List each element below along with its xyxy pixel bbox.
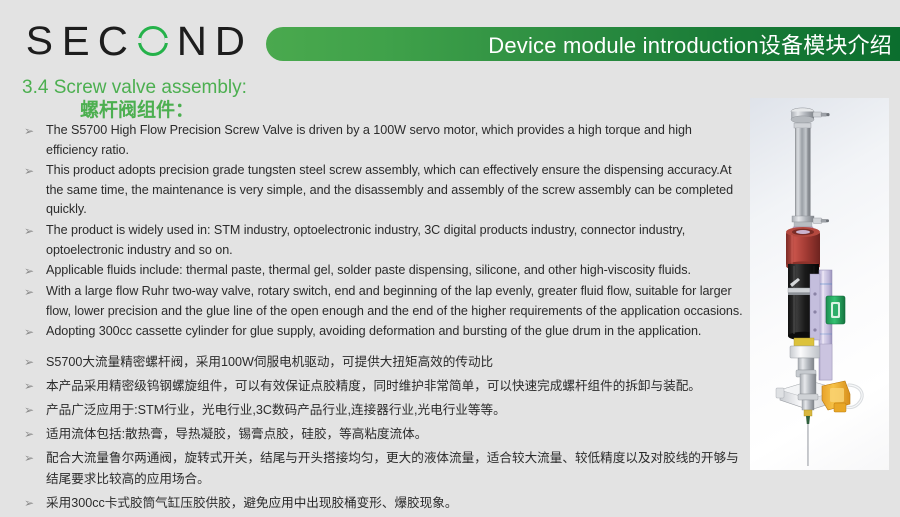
bullet-arrow-icon: ➢	[24, 161, 46, 181]
bullet-text: Applicable fluids include: thermal paste…	[46, 261, 746, 281]
bullet-text: This product adopts precision grade tung…	[46, 161, 746, 220]
section-title-cn: 螺杆阀组件：	[80, 99, 194, 123]
list-item: ➢ S5700大流量精密螺杆阀，采用100W伺服电机驱动，可提供大扭矩高效的传动…	[24, 352, 746, 373]
content-body: ➢ The S5700 High Flow Precision Screw Va…	[24, 121, 746, 517]
list-item: ➢ 配合大流量鲁尔两通阀，旋转式开关，结尾与开头搭接均匀，更大的液体流量，适合较…	[24, 448, 746, 490]
bullet-arrow-icon: ➢	[24, 261, 46, 281]
silver-cylinder-group	[791, 108, 830, 232]
bullet-text: Adopting 300cc cassette cylinder for glu…	[46, 322, 746, 342]
logo-letter-e: E	[61, 21, 89, 62]
dispensing-needle-group	[802, 400, 814, 466]
bullet-text: 产品广泛应用于:STM行业，光电行业,3C数码产品行业,连接器行业,光电行业等等…	[46, 400, 746, 421]
banner-title: Device module introduction设备模块介绍	[488, 28, 892, 60]
bullet-list-chinese: ➢ S5700大流量精密螺杆阀，采用100W伺服电机驱动，可提供大扭矩高效的传动…	[24, 352, 746, 514]
list-item: ➢ Adopting 300cc cassette cylinder for g…	[24, 322, 746, 342]
logo-letter-c: C	[98, 21, 128, 62]
list-item: ➢ 适用流体包括:散热膏，导热凝胶，锡膏点胶，硅胶，等高粘度流体。	[24, 424, 746, 445]
bullet-text: 配合大流量鲁尔两通阀，旋转式开关，结尾与开头搭接均匀，更大的液体流量，适合较大流…	[46, 448, 746, 490]
list-item: ➢ The S5700 High Flow Precision Screw Va…	[24, 121, 746, 160]
logo-letter-s: S	[26, 21, 53, 61]
screw-valve-assembly-cad-render	[750, 98, 889, 470]
bullet-arrow-icon: ➢	[24, 221, 46, 241]
section-title-en: 3.4 Screw valve assembly:	[22, 76, 247, 100]
logo-letter-n: N	[176, 21, 206, 62]
bullet-arrow-icon: ➢	[24, 493, 46, 513]
logo-circle-o-icon	[138, 26, 168, 56]
bullet-arrow-icon: ➢	[24, 352, 46, 372]
product-image-panel	[750, 98, 889, 470]
bullet-arrow-icon: ➢	[24, 376, 46, 396]
bullet-text: 适用流体包括:散热膏，导热凝胶，锡膏点胶，硅胶，等高粘度流体。	[46, 424, 746, 445]
list-item: ➢ The product is widely used in: STM ind…	[24, 221, 746, 260]
bullet-arrow-icon: ➢	[24, 322, 46, 342]
bullet-text: The S5700 High Flow Precision Screw Valv…	[46, 121, 746, 160]
bullet-text: S5700大流量精密螺杆阀，采用100W伺服电机驱动，可提供大扭矩高效的传动比	[46, 352, 746, 373]
bullet-text: 本产品采用精密级钨钢螺旋组件，可以有效保证点胶精度，同时维护非常简单，可以快速完…	[46, 376, 746, 397]
list-item: ➢ Applicable fluids include: thermal pas…	[24, 261, 746, 281]
header-banner: Device module introduction设备模块介绍	[266, 27, 900, 61]
bullet-arrow-icon: ➢	[24, 424, 46, 444]
bullet-arrow-icon: ➢	[24, 282, 46, 302]
list-item: ➢ 产品广泛应用于:STM行业，光电行业,3C数码产品行业,连接器行业,光电行业…	[24, 400, 746, 421]
mid-connector-group	[790, 338, 832, 380]
bullet-text: 采用300cc卡式胶筒气缸压胶供胶，避免应用中出现胶桶变形、爆胶现象。	[46, 493, 746, 514]
bullet-text: With a large flow Ruhr two-way valve, ro…	[46, 282, 746, 321]
brand-logo: S E C N D	[26, 20, 254, 62]
list-item: ➢ With a large flow Ruhr two-way valve, …	[24, 282, 746, 321]
list-item: ➢ 采用300cc卡式胶筒气缸压胶供胶，避免应用中出现胶桶变形、爆胶现象。	[24, 493, 746, 514]
bullet-arrow-icon: ➢	[24, 448, 46, 468]
page-header: S E C N D Device module introduction设备模块…	[0, 0, 900, 78]
bullet-arrow-icon: ➢	[24, 121, 46, 141]
bullet-text: The product is widely used in: STM indus…	[46, 221, 746, 260]
logo-letter-d: D	[215, 21, 245, 62]
bullet-list-english: ➢ The S5700 High Flow Precision Screw Va…	[24, 121, 746, 342]
green-indicator-group	[826, 296, 845, 324]
list-item: ➢ This product adopts precision grade tu…	[24, 161, 746, 220]
list-item: ➢ 本产品采用精密级钨钢螺旋组件，可以有效保证点胶精度，同时维护非常简单，可以快…	[24, 376, 746, 397]
bullet-arrow-icon: ➢	[24, 400, 46, 420]
